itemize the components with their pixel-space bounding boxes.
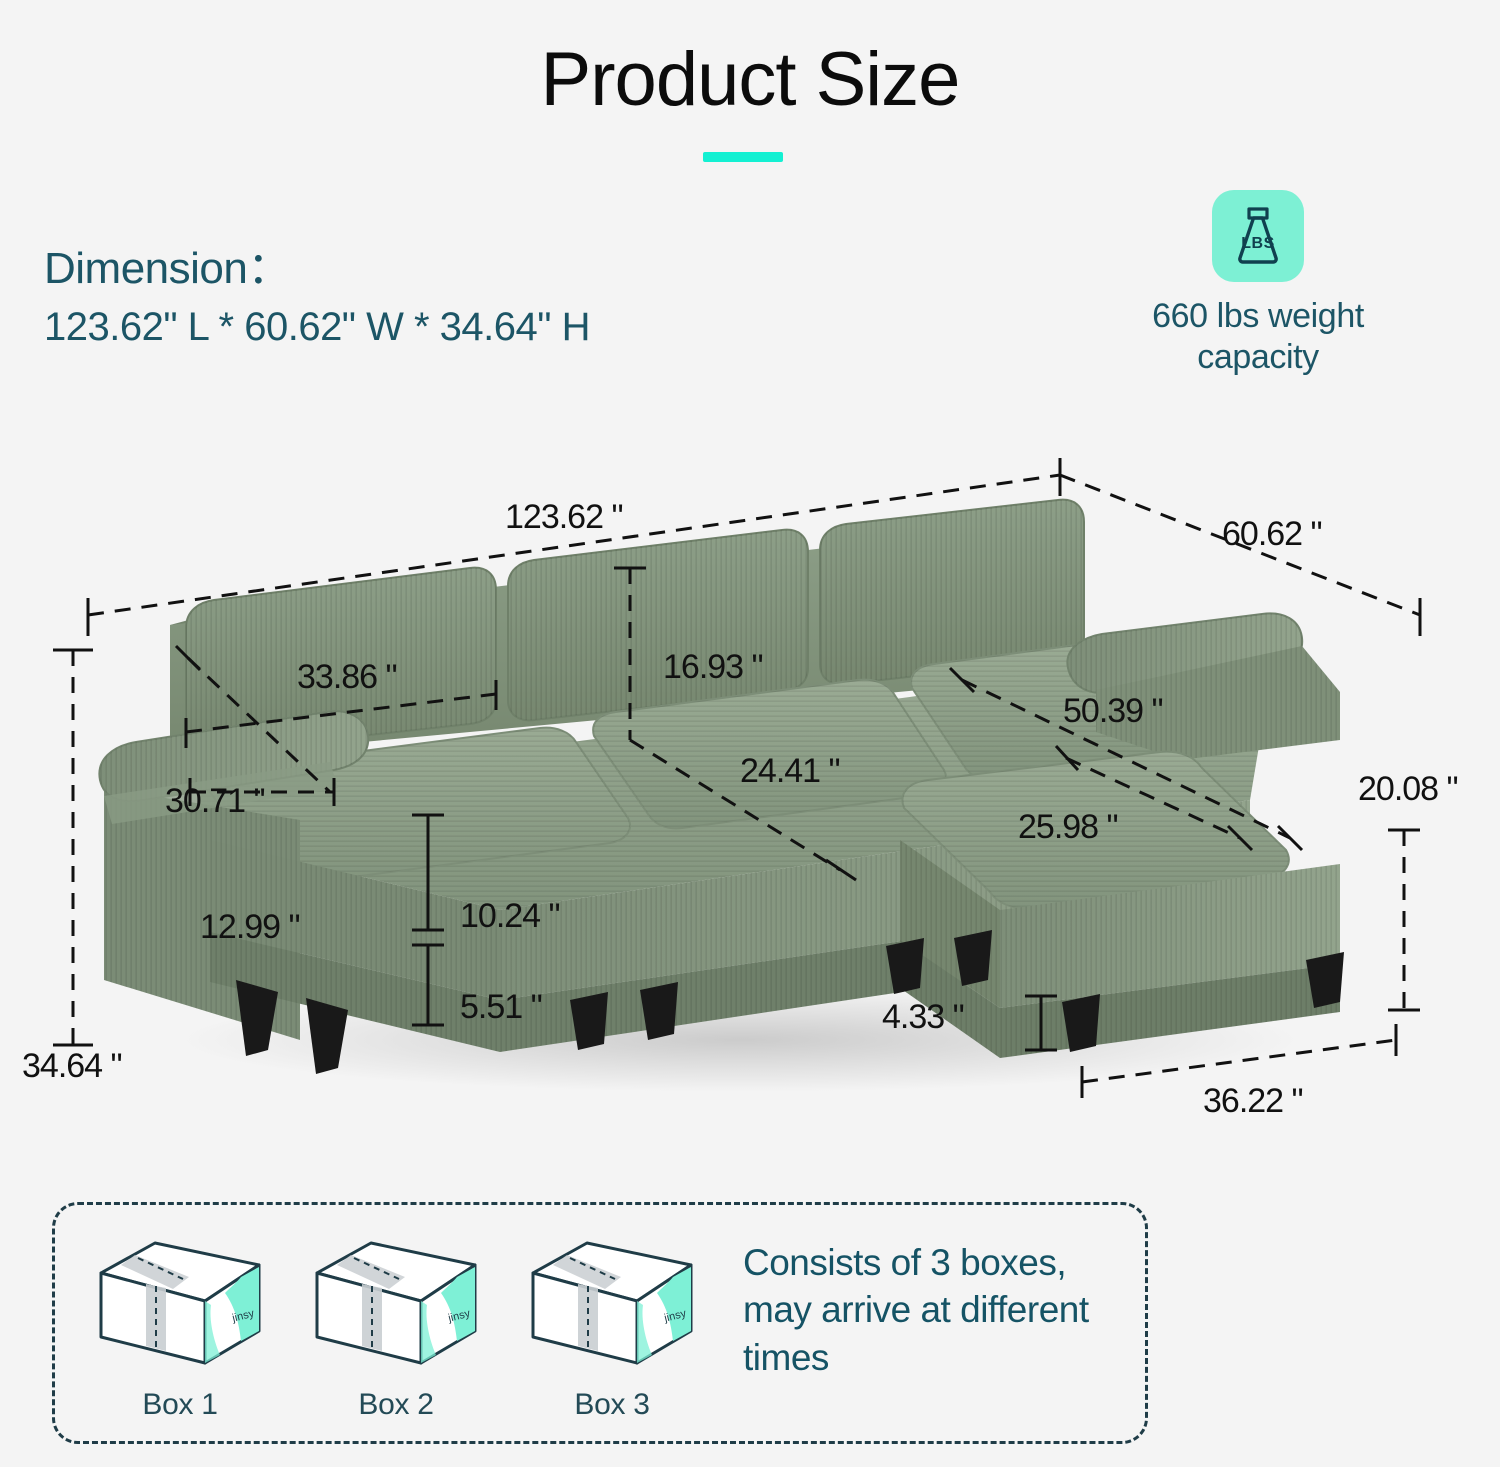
weight-capacity-line1: 660 lbs weight <box>1152 297 1364 335</box>
list-item: jinsy Box 2 <box>305 1227 487 1422</box>
box-icon: jinsy <box>305 1227 487 1377</box>
boxes-row: jinsy Box 1 jinsy Box 2 <box>89 1227 703 1422</box>
dim-label-armrest-height: 12.99 " <box>200 908 300 946</box>
box-caption: Box 3 <box>521 1388 703 1422</box>
dim-label-leg-height: 4.33 " <box>882 998 964 1036</box>
dim-label-overall-height: 34.64 " <box>22 1047 122 1085</box>
dim-label-chaise-length: 50.39 " <box>1063 692 1163 730</box>
dim-label-overall-length: 123.62 " <box>505 498 623 536</box>
box-caption: Box 2 <box>305 1388 487 1422</box>
weight-capacity-block: LBS 660 lbs weight capacity <box>1108 190 1408 378</box>
dimension-value: 123.62" L * 60.62" W * 34.64" H <box>44 305 590 350</box>
dim-label-backrest-height: 16.93 " <box>663 648 763 686</box>
weight-capacity-line2: capacity <box>1197 338 1319 376</box>
dim-label-seat-cushion-height: 10.24 " <box>460 897 560 935</box>
dimension-label: Dimension： <box>44 232 291 296</box>
box-caption: Box 1 <box>89 1388 271 1422</box>
dim-label-seat-depth: 24.41 " <box>740 752 840 790</box>
list-item: jinsy Box 1 <box>89 1227 271 1422</box>
dim-label-overall-depth: 60.62 " <box>1222 515 1322 553</box>
box-icon: jinsy <box>89 1227 271 1377</box>
sofa-dimension-diagram: 123.62 " 60.62 " 34.64 " 33.86 " 16.93 "… <box>0 440 1500 1160</box>
shipping-boxes-panel: jinsy Box 1 jinsy Box 2 <box>52 1202 1148 1444</box>
weight-capacity-text: 660 lbs weight capacity <box>1108 296 1408 378</box>
dim-label-backrest-width: 33.86 " <box>297 658 397 696</box>
dim-label-base-height: 5.51 " <box>460 988 542 1026</box>
product-size-infographic: Product Size Dimension： 123.62" L * 60.6… <box>0 0 1500 1467</box>
title-accent-bar <box>703 152 783 162</box>
dim-label-chaise-width: 36.22 " <box>1203 1082 1303 1120</box>
list-item: jinsy Box 3 <box>521 1227 703 1422</box>
svg-text:LBS: LBS <box>1241 235 1275 252</box>
box-icon: jinsy <box>521 1227 703 1377</box>
lbs-weight-icon: LBS <box>1212 190 1304 282</box>
dim-label-chaise-cushion: 25.98 " <box>1018 808 1118 846</box>
shipping-note: Consists of 3 boxes, may arrive at diffe… <box>743 1239 1133 1381</box>
dim-label-chaise-seat-height: 20.08 " <box>1358 770 1458 808</box>
page-title: Product Size <box>0 42 1500 118</box>
dim-label-armrest-length: 30.71 " <box>165 782 265 820</box>
